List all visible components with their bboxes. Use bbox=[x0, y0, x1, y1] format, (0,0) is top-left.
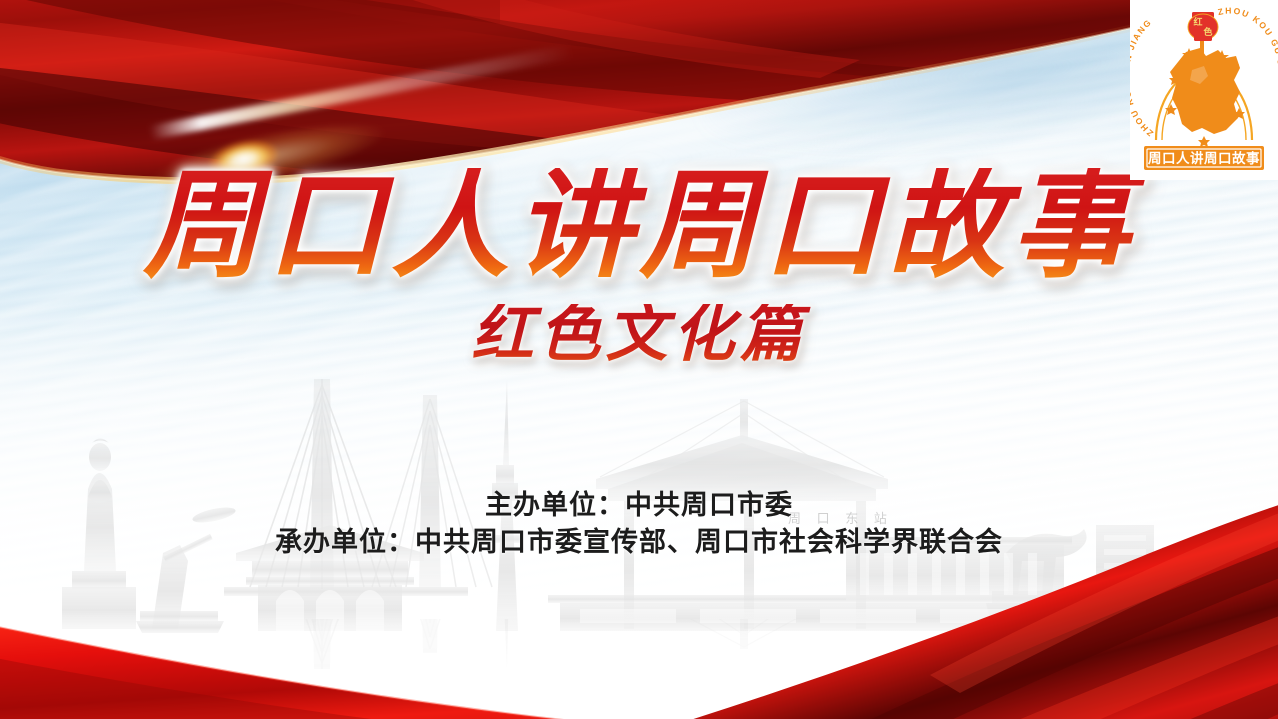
title-block: 周口人讲周口故事 红色文化篇 bbox=[0, 168, 1278, 366]
organizer-line: 主办单位：中共周口市委 bbox=[0, 487, 1278, 524]
coorganizer-line: 承办单位：中共周口市委宣传部、周口市社会科学界联合会 bbox=[0, 524, 1278, 561]
page-title: 周口人讲周口故事 bbox=[0, 168, 1278, 286]
svg-text:色: 色 bbox=[1203, 26, 1212, 37]
svg-text:周口人讲周口故事: 周口人讲周口故事 bbox=[1148, 150, 1260, 166]
event-logo-badge[interactable]: 红 色 ZHOU KOU REN JIANG ZHOU KOU GU SHI bbox=[1130, 0, 1278, 180]
svg-text:红: 红 bbox=[1193, 16, 1202, 27]
page-subtitle: 红色文化篇 bbox=[0, 304, 1278, 366]
organizer-block: 主办单位：中共周口市委 承办单位：中共周口市委宣传部、周口市社会科学界联合会 bbox=[0, 487, 1278, 562]
poster-canvas: 周 口 东 站 bbox=[0, 0, 1278, 719]
